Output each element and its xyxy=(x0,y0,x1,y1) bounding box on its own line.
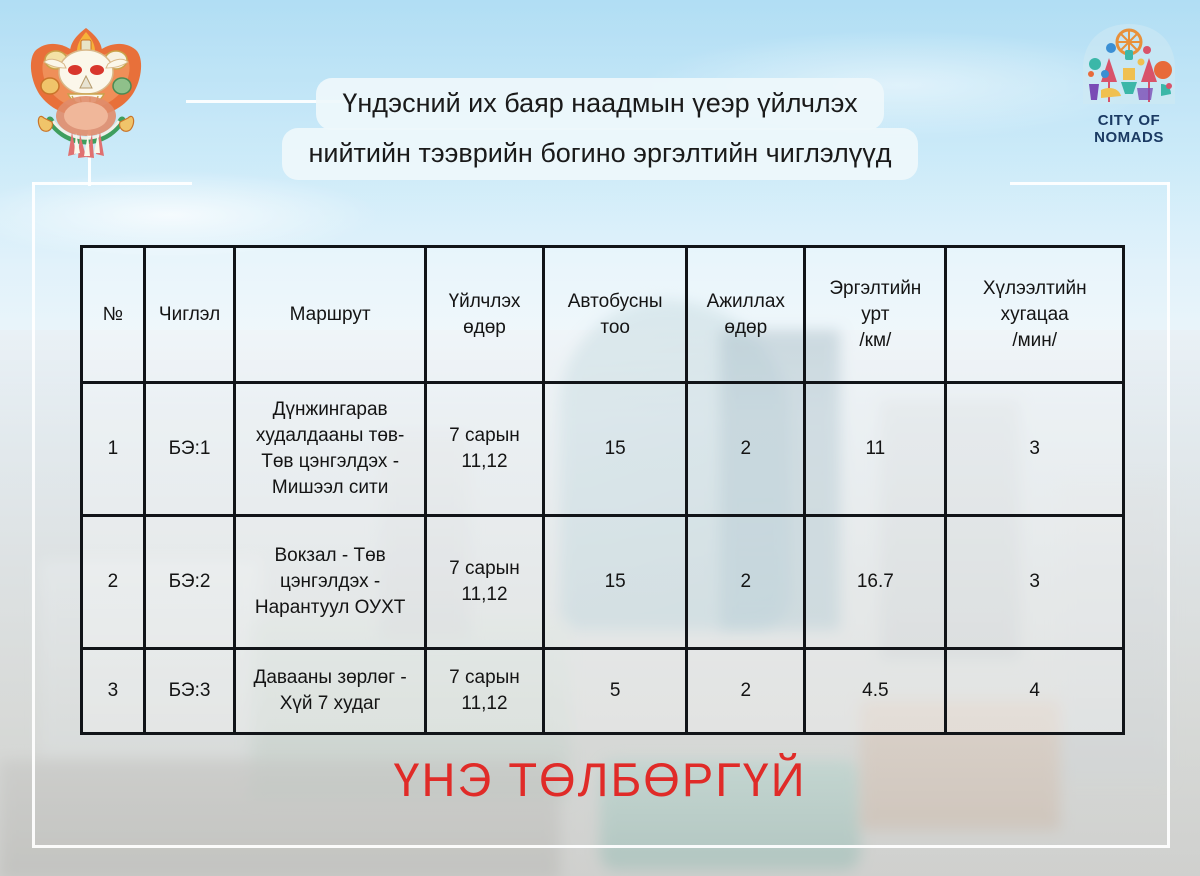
cell-direction: БЭ:3 xyxy=(144,649,234,734)
cell-loop-length: 16.7 xyxy=(805,516,946,649)
cell-wait-time: 3 xyxy=(946,383,1124,516)
cell-route: Дүнжингарав худалдааны төв-Төв цэнгэлдэх… xyxy=(235,383,426,516)
cell-work-days: 2 xyxy=(687,383,805,516)
header-work-days-l1: Ажиллах xyxy=(694,289,797,315)
decorative-frame-top-left xyxy=(32,182,192,185)
title-line-1: Үндэсний их баяр наадмын үеэр үйлчлэх xyxy=(316,78,883,130)
header-work-days-l2: өдөр xyxy=(694,315,797,341)
title-line-2: нийтийн тээврийн богино эргэлтийн чиглэл… xyxy=(282,128,917,180)
cell-bus-count: 5 xyxy=(543,649,686,734)
free-of-charge-label: ҮНЭ ТӨЛБӨРГҮЙ xyxy=(0,752,1200,807)
header-wait-time: Хүлээлтийн хугацаа /мин/ xyxy=(946,247,1124,383)
cell-route: Вокзал - Төв цэнгэлдэх - Нарантуул ОУХТ xyxy=(235,516,426,649)
route-schedule-table: № Чиглэл Маршрут Үйлчлэх өдөр Автобусны xyxy=(80,245,1125,735)
header-service-days-l1: Үйлчлэх xyxy=(433,289,536,315)
cell-loop-length: 11 xyxy=(805,383,946,516)
table-body: 1 БЭ:1 Дүнжингарав худалдааны төв-Төв цэ… xyxy=(82,383,1124,734)
header-loop-length-l2: урт xyxy=(812,302,938,328)
header-loop-length-l3: /км/ xyxy=(812,328,938,354)
table-row: 2 БЭ:2 Вокзал - Төв цэнгэлдэх - Нарантуу… xyxy=(82,516,1124,649)
table-row: 1 БЭ:1 Дүнжингарав худалдааны төв-Төв цэ… xyxy=(82,383,1124,516)
header-wait-time-l2: хугацаа xyxy=(953,302,1116,328)
cell-bus-count: 15 xyxy=(543,383,686,516)
header-no: № xyxy=(82,247,145,383)
header-no-l1: № xyxy=(103,304,123,325)
header-direction: Чиглэл xyxy=(144,247,234,383)
header-loop-length-l1: Эргэлтийн xyxy=(812,276,938,302)
poster-root: CITY OF NOMADS Үндэсний их баяр наадмын … xyxy=(0,0,1200,876)
cell-direction: БЭ:2 xyxy=(144,516,234,649)
header-loop-length: Эргэлтийн урт /км/ xyxy=(805,247,946,383)
header-wait-time-l1: Хүлээлтийн xyxy=(953,276,1116,302)
header-route-l1: Маршрут xyxy=(290,304,371,325)
cell-wait-time: 3 xyxy=(946,516,1124,649)
header-bus-count-l1: Автобусны xyxy=(551,289,679,315)
header-route: Маршрут xyxy=(235,247,426,383)
cell-service-days: 7 сарын 11,12 xyxy=(426,383,544,516)
cell-work-days: 2 xyxy=(687,649,805,734)
cell-wait-time: 4 xyxy=(946,649,1124,734)
cell-no: 3 xyxy=(82,649,145,734)
header-direction-l1: Чиглэл xyxy=(159,304,220,325)
cell-route: Давааны зөрлөг - Хүй 7 худаг xyxy=(235,649,426,734)
header-service-days: Үйлчлэх өдөр xyxy=(426,247,544,383)
header-work-days: Ажиллах өдөр xyxy=(687,247,805,383)
table-row: 3 БЭ:3 Давааны зөрлөг - Хүй 7 худаг 7 са… xyxy=(82,649,1124,734)
header-service-days-l2: өдөр xyxy=(433,315,536,341)
table-head: № Чиглэл Маршрут Үйлчлэх өдөр Автобусны xyxy=(82,247,1124,383)
header-bus-count: Автобусны тоо xyxy=(543,247,686,383)
header-bus-count-l2: тоо xyxy=(551,315,679,341)
cell-work-days: 2 xyxy=(687,516,805,649)
cell-no: 1 xyxy=(82,383,145,516)
cell-no: 2 xyxy=(82,516,145,649)
route-table-container: № Чиглэл Маршрут Үйлчлэх өдөр Автобусны xyxy=(80,245,1125,735)
cell-service-days: 7 сарын 11,12 xyxy=(426,649,544,734)
cell-loop-length: 4.5 xyxy=(805,649,946,734)
decorative-frame-top-right xyxy=(1010,182,1170,185)
cell-bus-count: 15 xyxy=(543,516,686,649)
cell-direction: БЭ:1 xyxy=(144,383,234,516)
table-header-row: № Чиглэл Маршрут Үйлчлэх өдөр Автобусны xyxy=(82,247,1124,383)
cell-service-days: 7 сарын 11,12 xyxy=(426,516,544,649)
header-wait-time-l3: /мин/ xyxy=(953,328,1116,354)
poster-title: Үндэсний их баяр наадмын үеэр үйлчлэх ни… xyxy=(0,78,1200,180)
